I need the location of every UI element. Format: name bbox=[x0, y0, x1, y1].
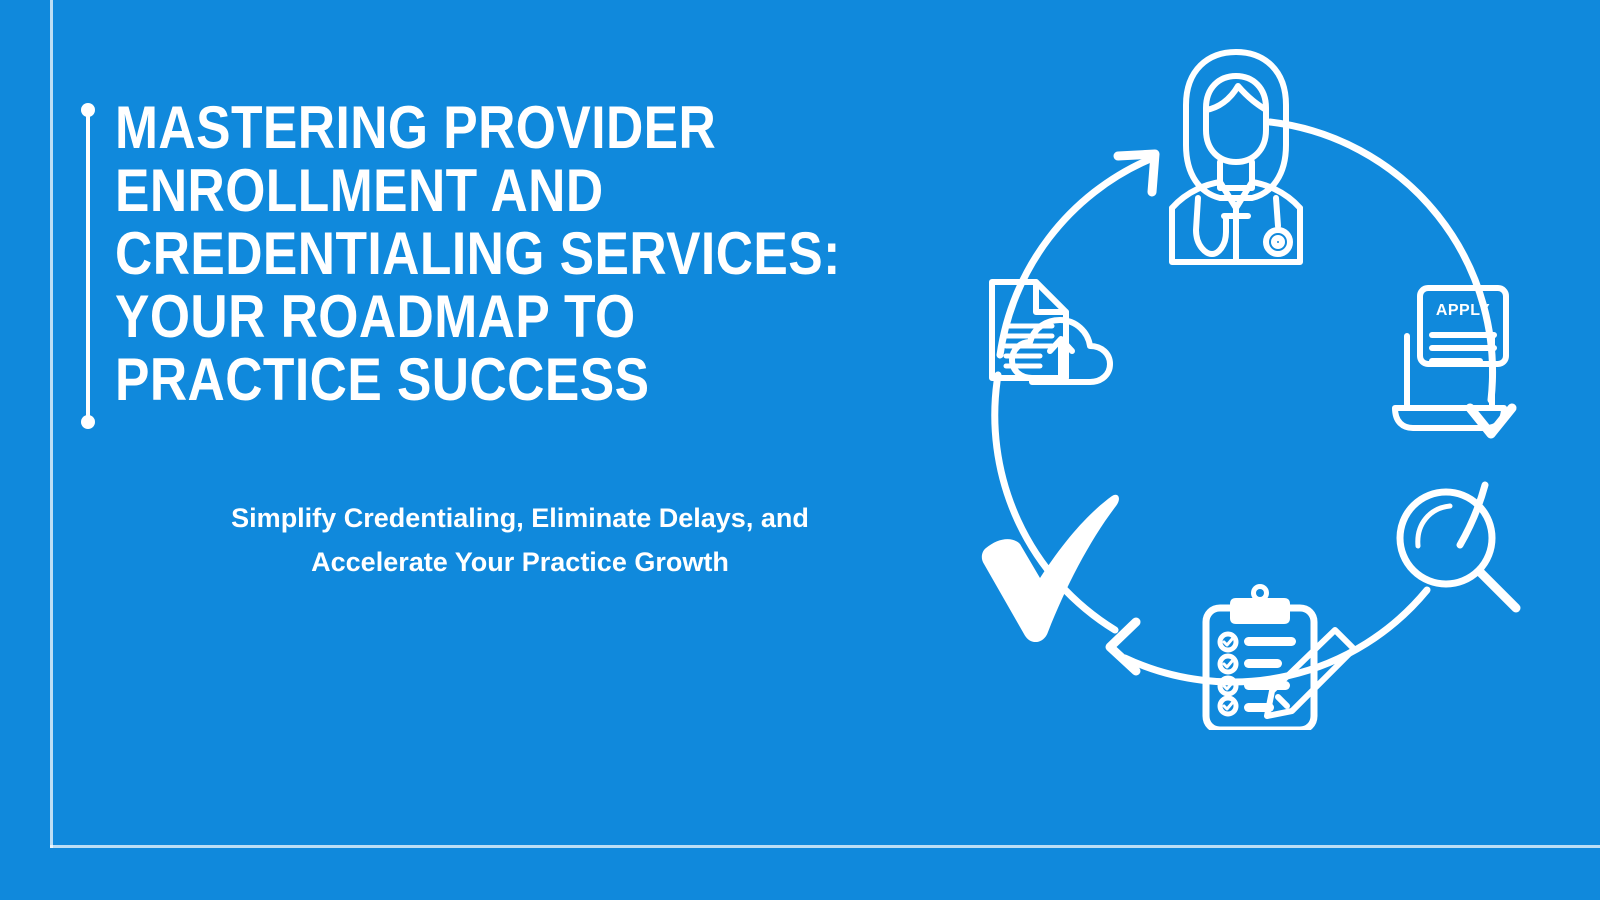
magnifier-icon bbox=[1400, 492, 1516, 608]
accent-dot-bottom bbox=[81, 415, 95, 429]
cycle-diagram: APPLY bbox=[940, 30, 1560, 730]
doctor-icon bbox=[1172, 52, 1300, 262]
accent-bar-line bbox=[86, 110, 90, 420]
document-cloud-upload-icon bbox=[992, 282, 1110, 382]
frame-left-line bbox=[50, 0, 53, 848]
clipboard-checklist-icon bbox=[1206, 584, 1354, 730]
frame-bottom-line bbox=[50, 845, 1600, 848]
subtitle: Simplify Credentialing, Eliminate Delays… bbox=[115, 496, 925, 584]
accent-bar bbox=[81, 100, 95, 430]
slide-canvas: MASTERING PROVIDER ENROLLMENT AND CREDEN… bbox=[0, 0, 1600, 900]
laptop-screen-label: APPLY bbox=[1436, 302, 1490, 319]
page-title: MASTERING PROVIDER ENROLLMENT AND CREDEN… bbox=[115, 96, 855, 411]
text-block: MASTERING PROVIDER ENROLLMENT AND CREDEN… bbox=[115, 96, 975, 411]
